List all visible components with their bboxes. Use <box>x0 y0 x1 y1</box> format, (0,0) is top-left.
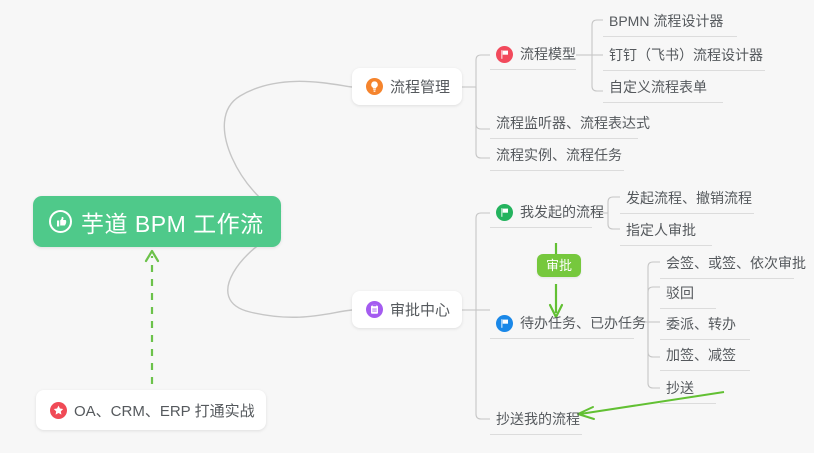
wire-add-remove-sign <box>648 322 660 357</box>
wire-custom-form <box>592 55 603 91</box>
node-label-add-remove-sign: 加签、减签 <box>666 345 736 365</box>
flag-icon <box>496 315 513 332</box>
star-icon <box>50 402 67 419</box>
flag-icon <box>496 204 513 221</box>
wire-cc-to-me <box>476 310 490 419</box>
node-assign-approver[interactable]: 指定人审批 <box>620 217 712 246</box>
flag-icon <box>496 46 513 63</box>
node-label-process-instance: 流程实例、流程任务 <box>496 145 622 165</box>
node-label-delegate-transfer: 委派、转办 <box>666 314 736 334</box>
node-label-assign-approver: 指定人审批 <box>626 220 696 240</box>
floating-note-label: OA、CRM、ERP 打通实战 <box>74 400 255 421</box>
wire-root-to-process <box>224 81 352 212</box>
node-process-model[interactable]: 流程模型 <box>490 41 576 70</box>
node-reject[interactable]: 驳回 <box>660 280 716 309</box>
node-carbon-copy[interactable]: 抄送 <box>660 375 716 404</box>
node-label-countersign: 会签、或签、依次审批 <box>666 253 806 273</box>
root-node-label: 芋道 BPM 工作流 <box>81 205 264 239</box>
node-add-remove-sign[interactable]: 加签、减签 <box>660 342 750 371</box>
node-label-process-model: 流程模型 <box>520 44 576 64</box>
approval-badge-label: 审批 <box>546 258 572 273</box>
dashed-arrow-head <box>146 251 158 261</box>
node-label-todo-done-tasks: 待办任务、已办任务 <box>520 313 646 333</box>
wire-assign-approver <box>608 213 620 229</box>
node-cc-to-me[interactable]: 抄送我的流程 <box>490 406 582 435</box>
node-todo-done-tasks[interactable]: 待办任务、已办任务 <box>490 310 634 339</box>
node-label-cc-to-me: 抄送我的流程 <box>496 409 580 429</box>
node-label-custom-form: 自定义流程表单 <box>609 77 707 97</box>
wire-bpmn <box>592 20 603 55</box>
wire-process-model <box>476 55 490 87</box>
branch-label-approval-center: 审批中心 <box>390 299 450 320</box>
wire-my-started <box>476 213 490 310</box>
branch-node-approval-center[interactable]: 审批中心 <box>352 291 462 328</box>
branch-node-process-management[interactable]: 流程管理 <box>352 68 462 105</box>
node-label-carbon-copy: 抄送 <box>666 378 694 398</box>
node-custom-form[interactable]: 自定义流程表单 <box>603 74 723 103</box>
wire-cc <box>648 322 660 388</box>
approval-badge: 审批 <box>537 254 581 277</box>
node-label-reject: 驳回 <box>666 283 694 303</box>
node-label-my-started-process: 我发起的流程 <box>520 202 604 222</box>
node-delegate-transfer[interactable]: 委派、转办 <box>660 311 750 340</box>
node-process-listener[interactable]: 流程监听器、流程表达式 <box>490 110 638 139</box>
node-label-process-listener: 流程监听器、流程表达式 <box>496 113 650 133</box>
node-label-launch-cancel-process: 发起流程、撤销流程 <box>626 188 752 208</box>
floating-note-node[interactable]: OA、CRM、ERP 打通实战 <box>36 390 266 430</box>
node-launch-cancel-process[interactable]: 发起流程、撤销流程 <box>620 185 754 214</box>
lightbulb-icon <box>366 78 383 95</box>
node-process-instance[interactable]: 流程实例、流程任务 <box>490 142 624 171</box>
wire-countersign <box>648 262 660 322</box>
mindmap-canvas: 芋道 BPM 工作流 OA、CRM、ERP 打通实战 流程管理 <box>0 0 814 453</box>
node-label-bpmn-designer: BPMN 流程设计器 <box>609 11 723 31</box>
clipboard-icon <box>366 301 383 318</box>
node-bpmn-designer[interactable]: BPMN 流程设计器 <box>603 8 737 37</box>
node-dingtalk-designer[interactable]: 钉钉（飞书）流程设计器 <box>603 42 765 71</box>
node-my-started-process[interactable]: 我发起的流程 <box>490 199 592 228</box>
root-node[interactable]: 芋道 BPM 工作流 <box>33 196 281 247</box>
wire-launch-cancel <box>608 197 620 213</box>
thumbs-up-icon <box>49 210 72 233</box>
node-label-dingtalk-designer: 钉钉（飞书）流程设计器 <box>609 45 763 65</box>
node-countersign[interactable]: 会签、或签、依次审批 <box>660 250 794 279</box>
wire-process-instance <box>476 87 490 158</box>
branch-label-process-management: 流程管理 <box>390 76 450 97</box>
wire-reject <box>648 287 660 322</box>
wire-process-listener <box>476 87 490 129</box>
